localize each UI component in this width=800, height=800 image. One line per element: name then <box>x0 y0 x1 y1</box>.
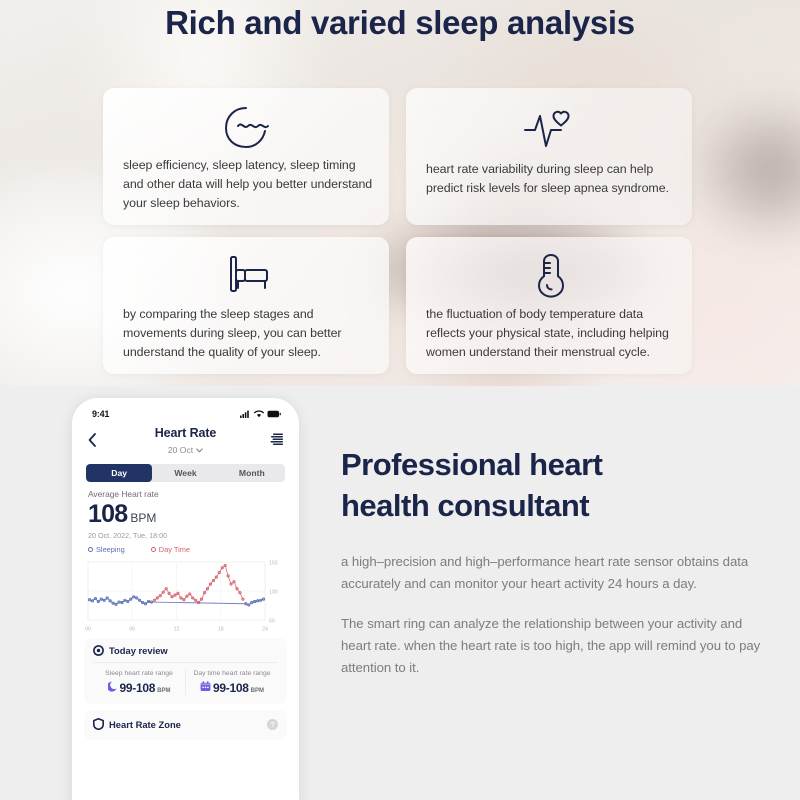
daytime-heart-rate-range: Day time heart rate range <box>185 670 278 695</box>
range-value: 99-108 <box>213 681 249 695</box>
sleep-analysis-section: Rich and varied sleep analysis sleep eff… <box>0 0 800 386</box>
section-title-line1: Professional heart <box>341 445 761 486</box>
app-header: Heart Rate 20 Oct <box>76 424 295 462</box>
tab-day[interactable]: Day <box>86 464 152 482</box>
column-label: Day time heart rate range <box>186 670 278 677</box>
page-root: Rich and varied sleep analysis sleep eff… <box>0 0 800 800</box>
background-blur-blob <box>690 95 800 245</box>
average-label: Average Heart rate <box>88 489 283 499</box>
svg-text:18: 18 <box>218 627 224 633</box>
section-title: Professional heart health consultant <box>341 445 761 527</box>
battery-icon <box>267 410 281 418</box>
page-title: Rich and varied sleep analysis <box>0 4 800 42</box>
legend-dot-icon <box>151 547 156 552</box>
header-titles: Heart Rate 20 Oct <box>106 426 265 458</box>
phone-screen: 9:41 <box>76 402 295 800</box>
help-icon[interactable]: ? <box>267 719 278 730</box>
average-value-row: 108 BPM <box>88 500 283 529</box>
today-review-card: Today review Sleep heart rate range 99-1… <box>84 638 287 704</box>
legend-item-sleeping: Sleeping <box>88 545 125 554</box>
average-unit: BPM <box>130 511 156 525</box>
average-value: 108 <box>88 500 127 529</box>
section-paragraph-1: a high–precision and high–performance he… <box>341 551 761 595</box>
feature-card-sleep-stages: by comparing the sleep stages and moveme… <box>103 237 389 374</box>
feature-card-body-temperature: the fluctuation of body temperature data… <box>406 237 692 374</box>
legend-item-daytime: Day Time <box>151 545 190 554</box>
page-title: Heart Rate <box>106 426 265 440</box>
average-timestamp: 20 Oct. 2022, Tue, 18:00 <box>88 531 283 540</box>
today-review-columns: Sleep heart rate range 99-108 BPM Day ti… <box>93 670 278 695</box>
today-review-header: Today review <box>93 645 278 663</box>
heart-rate-chart[interactable]: 501001500006121824 <box>76 554 295 634</box>
svg-text:12: 12 <box>174 627 180 633</box>
legend-label: Day Time <box>159 545 190 554</box>
phone-notch <box>140 402 232 419</box>
feature-card-grid: sleep efficiency, sleep latency, sleep t… <box>103 88 703 374</box>
svg-text:00: 00 <box>85 627 91 633</box>
average-heart-rate-block: Average Heart rate 108 BPM 20 Oct. 2022,… <box>76 482 295 540</box>
today-review-title: Today review <box>109 645 168 656</box>
column-label: Sleep heart rate range <box>93 670 185 677</box>
moon-icon <box>108 681 118 692</box>
bed-icon <box>123 247 373 305</box>
period-segmented-control: Day Week Month <box>86 464 285 482</box>
tab-week[interactable]: Week <box>152 464 218 482</box>
tab-month[interactable]: Month <box>219 464 285 482</box>
list-menu-icon[interactable] <box>265 426 283 445</box>
heart-rate-chart-svg: 501001500006121824 <box>84 556 295 634</box>
svg-text:150: 150 <box>269 560 278 566</box>
svg-text:06: 06 <box>129 627 135 633</box>
heart-rate-zone-card[interactable]: Heart Rate Zone ? <box>84 710 287 740</box>
target-circle-icon <box>93 645 104 656</box>
svg-text:24: 24 <box>262 627 268 633</box>
feature-card-text: heart rate variability during sleep can … <box>426 160 676 198</box>
shield-icon <box>93 718 104 730</box>
svg-text:50: 50 <box>269 618 275 624</box>
phone-mockup: 9:41 <box>72 398 299 800</box>
feature-card-text: sleep efficiency, sleep latency, sleep t… <box>123 156 373 213</box>
feature-card-heart-rate-variability: heart rate variability during sleep can … <box>406 88 692 225</box>
heart-rate-zone-title: Heart Rate Zone <box>109 719 181 730</box>
column-value-row: 99-108 BPM <box>93 681 185 695</box>
feature-card-text: the fluctuation of body temperature data… <box>426 305 676 362</box>
legend-dot-icon <box>88 547 93 552</box>
heart-rate-zone-header: Heart Rate Zone <box>93 718 267 730</box>
range-unit: BPM <box>251 688 264 694</box>
date-selector[interactable]: 20 Oct <box>168 445 203 455</box>
legend-label: Sleeping <box>96 545 125 554</box>
calendar-icon <box>200 681 211 692</box>
section-title-line2: health consultant <box>341 486 761 527</box>
chart-legend: Sleeping Day Time <box>76 540 295 554</box>
chevron-down-icon <box>196 448 203 453</box>
wifi-icon <box>254 410 264 418</box>
range-unit: BPM <box>157 688 170 694</box>
thermometer-icon <box>426 247 676 305</box>
svg-text:100: 100 <box>269 589 278 595</box>
date-label: 20 Oct <box>168 445 193 455</box>
sleep-heart-rate-range: Sleep heart rate range 99-108 BPM <box>93 670 185 695</box>
right-content-column: Professional heart health consultant a h… <box>341 445 761 679</box>
heartbeat-pulse-icon <box>426 98 676 160</box>
feature-card-sleep-efficiency: sleep efficiency, sleep latency, sleep t… <box>103 88 389 225</box>
signal-icon <box>240 410 251 418</box>
feature-card-text: by comparing the sleep stages and moveme… <box>123 305 373 362</box>
column-value-row: 99-108 BPM <box>186 681 278 695</box>
status-icons <box>240 410 281 418</box>
status-time: 9:41 <box>92 409 109 419</box>
moon-sleep-icon <box>123 98 373 156</box>
range-value: 99-108 <box>120 681 156 695</box>
chevron-left-icon[interactable] <box>88 426 106 452</box>
section-paragraph-2: The smart ring can analyze the relations… <box>341 613 761 678</box>
